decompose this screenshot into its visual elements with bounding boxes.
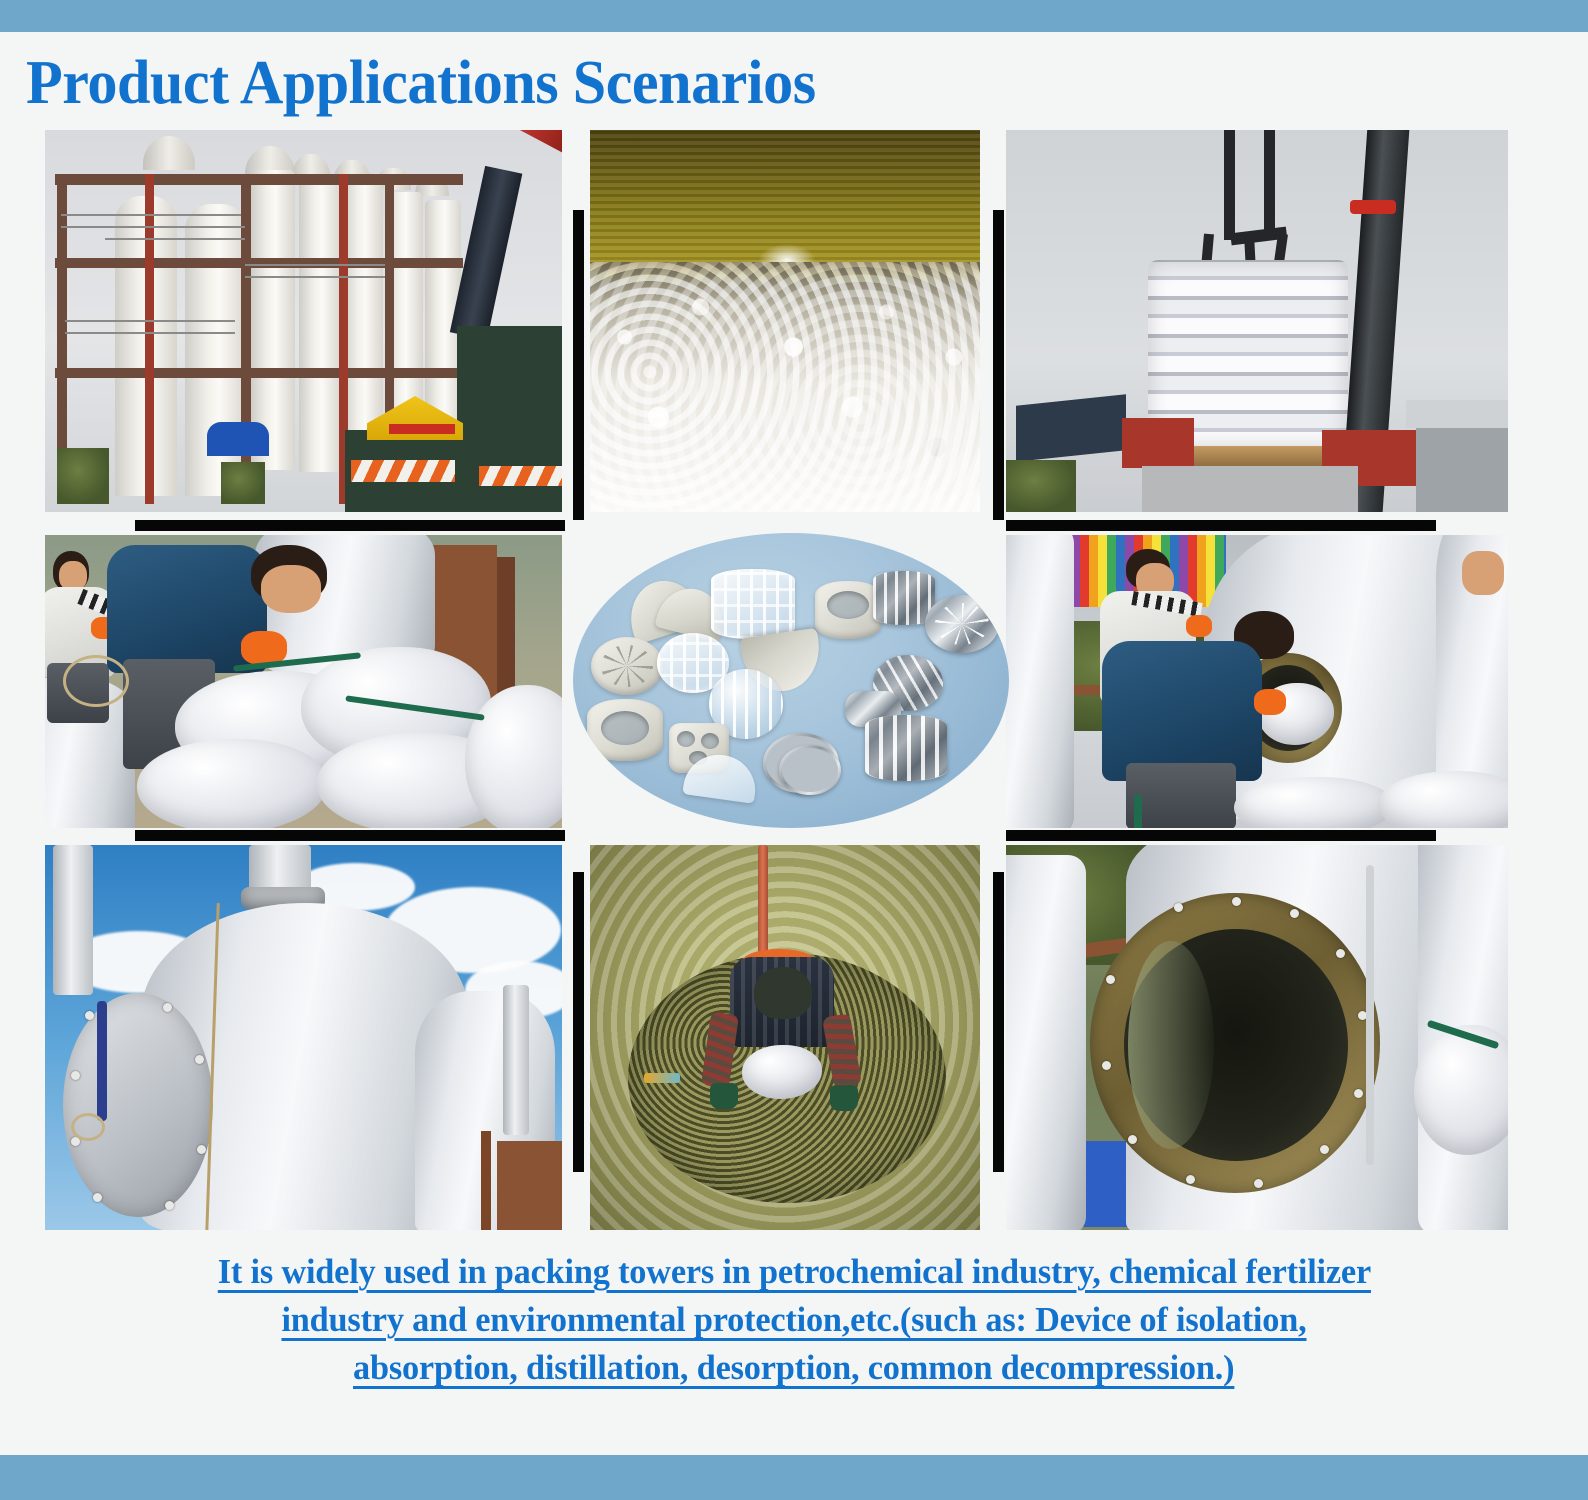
- photo-ceramic-rings-bed[interactable]: [590, 130, 980, 512]
- page-title-wrap: Product Applications Scenarios: [26, 46, 1426, 122]
- accent-bar-v2: [993, 210, 1004, 520]
- accent-bar-v1: [573, 210, 584, 520]
- photo-plant-towers[interactable]: [45, 130, 562, 512]
- accent-bar-h1: [135, 520, 565, 531]
- photo-frp-vessel-sky[interactable]: [45, 845, 562, 1230]
- accent-bar-h2: [1006, 520, 1436, 531]
- photo-worker-in-tower[interactable]: [590, 845, 980, 1230]
- accent-bar-h3: [135, 830, 565, 841]
- caption-block: It is widely used in packing towers in p…: [40, 1248, 1548, 1392]
- top-banner: [0, 0, 1588, 32]
- accent-bar-v3: [573, 872, 584, 1172]
- photo-workers-bags[interactable]: [45, 535, 562, 828]
- caption-line-2: industry and environmental protection,et…: [40, 1296, 1548, 1344]
- photo-product-collage[interactable]: [573, 533, 1009, 828]
- bottom-banner: [0, 1455, 1588, 1500]
- accent-bar-v4: [993, 872, 1004, 1172]
- photo-crane-lifting-bags[interactable]: [1006, 130, 1508, 512]
- caption-line-3: absorption, distillation, desorption, co…: [40, 1344, 1548, 1392]
- photo-open-manhole[interactable]: [1006, 845, 1508, 1230]
- photo-loading-manhole[interactable]: [1006, 535, 1508, 828]
- caption-line-1: It is widely used in packing towers in p…: [40, 1248, 1548, 1296]
- photo-collage: [0, 130, 1588, 1230]
- page-title: Product Applications Scenarios: [26, 46, 1384, 120]
- accent-bar-h4: [1006, 830, 1436, 841]
